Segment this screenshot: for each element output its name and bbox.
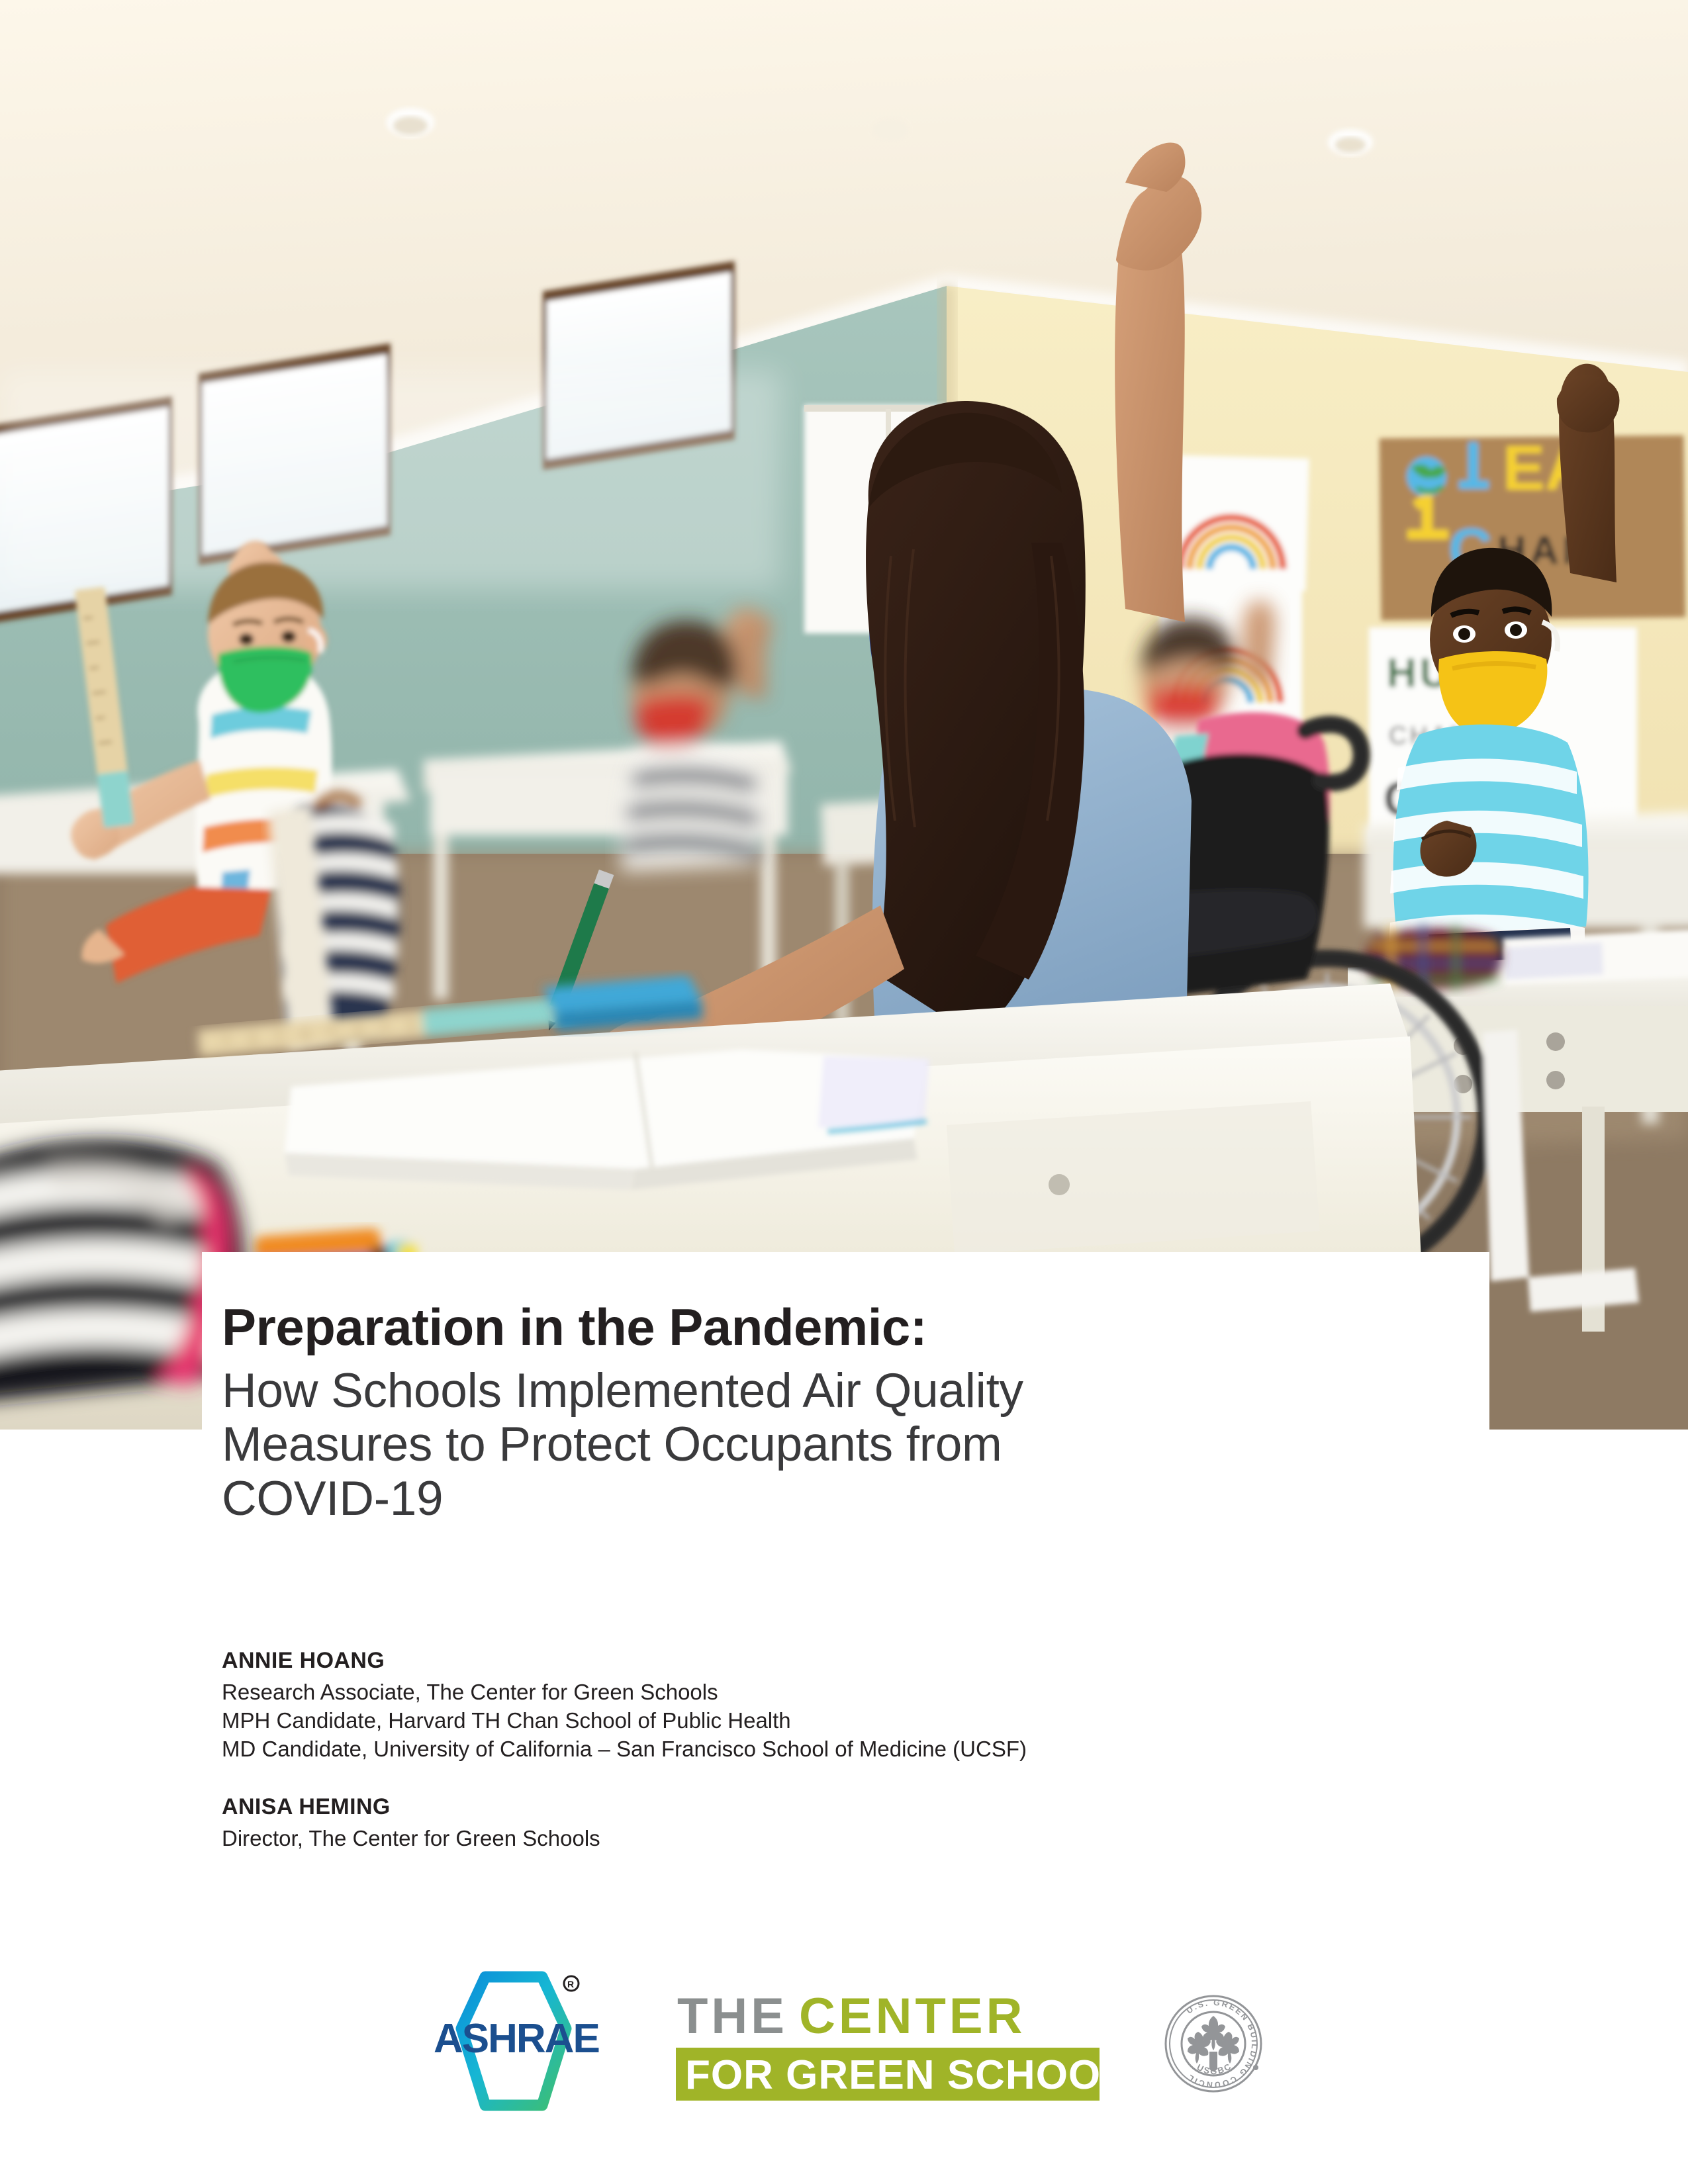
author-affiliation: MPH Candidate, Harvard TH Chan School of… [222, 1707, 1479, 1735]
page-title-sub-line2: Measures to Protect Occupants from [222, 1418, 1489, 1472]
cgs-line2: FOR GREEN SCHOOLS [685, 2052, 1154, 2098]
ashrae-logo: ASHRAE R [424, 1968, 603, 2123]
cgs-line1-the: THE [677, 1988, 788, 2044]
ceiling-light [387, 108, 434, 137]
page-title-sub-line3: COVID-19 [222, 1472, 1489, 1526]
page-title-main: Preparation in the Pandemic: [222, 1300, 1489, 1355]
ceiling-light [872, 118, 909, 141]
cgs-line1-center: CENTER [799, 1988, 1025, 2044]
author-affiliation: MD Candidate, University of California –… [222, 1735, 1479, 1764]
page-title-sub-line1: How Schools Implemented Air Quality [222, 1364, 1489, 1418]
footer-logos: ASHRAE R THE CENTER FOR GREEN SCHOOLS [0, 1952, 1688, 2138]
usgbc-seal: U.S. GREEN BUILDING COUNCIL USGBC [1172, 1993, 1264, 2097]
author-affiliation: Director, The Center for Green Schools [222, 1825, 1479, 1853]
author-affiliation: Research Associate, The Center for Green… [222, 1678, 1479, 1707]
ashrae-wordmark: ASHRAE [434, 2016, 599, 2062]
author-block: ANISA HEMING Director, The Center for Gr… [222, 1794, 1479, 1853]
author-name: ANNIE HOANG [222, 1648, 1479, 1674]
author-name: ANISA HEMING [222, 1794, 1479, 1820]
cover-photo: EA C HAN HUM A CHANGE CLIM [0, 0, 1688, 1430]
usgbc-leaf-icon [1188, 2016, 1239, 2071]
author-block: ANNIE HOANG Research Associate, The Cent… [222, 1648, 1479, 1764]
authors-section: ANNIE HOANG Research Associate, The Cent… [222, 1648, 1479, 1884]
center-for-green-schools-logo: THE CENTER FOR GREEN SCHOOLS [676, 1984, 1100, 2107]
title-panel: Preparation in the Pandemic: How Schools… [202, 1252, 1489, 1526]
page-title-sub: How Schools Implemented Air Quality Meas… [222, 1364, 1489, 1526]
ceiling-light [1328, 129, 1373, 156]
registered-mark-icon: R [564, 1976, 579, 1991]
svg-text:R: R [567, 1979, 574, 1989]
